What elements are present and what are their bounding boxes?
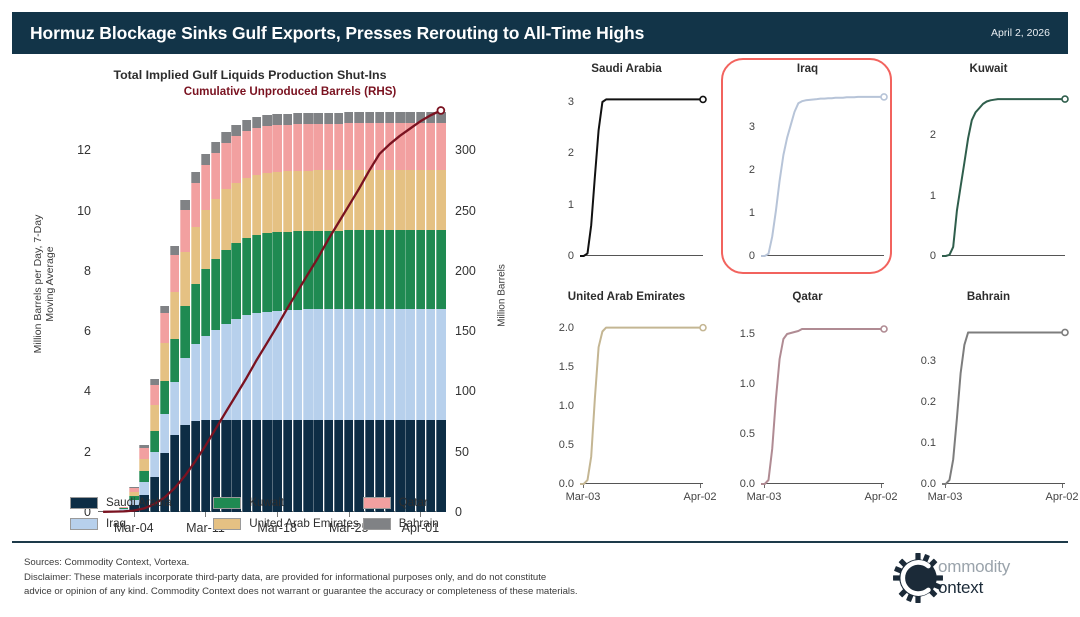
- small-multiple-kuwait[interactable]: Kuwait012: [898, 62, 1079, 290]
- small-multiple-y-tick: 0.5: [740, 428, 755, 440]
- small-multiple-y-tick: 1: [749, 207, 755, 219]
- small-multiples-grid: Saudi Arabia0123Iraq0123Kuwait012United …: [536, 62, 1080, 522]
- line-end-marker: [881, 94, 887, 100]
- small-multiple-line: [942, 84, 1065, 256]
- publication-date: April 2, 2026: [991, 27, 1050, 39]
- small-multiple-y-tick: 0.0: [559, 478, 574, 490]
- small-multiple-line: [942, 312, 1065, 484]
- legend-swatch: [213, 518, 241, 530]
- main-chart-plot-area: 024681012050100150200250300Mar-04Mar-11M…: [98, 102, 446, 512]
- legend-swatch: [363, 497, 391, 509]
- small-multiple-y-tick: 0.0: [740, 478, 755, 490]
- legend-item[interactable]: United Arab Emirates: [213, 513, 359, 534]
- small-multiple-y-tick: 1.0: [559, 400, 574, 412]
- main-chart-y2-axis-label: Million Barrels: [497, 236, 508, 356]
- small-multiple-plot-area: 0.00.10.20.3Mar-03Apr-02: [942, 312, 1065, 484]
- small-multiple-x-tick: Apr-02: [864, 491, 897, 503]
- logo-line-1: ommodity: [938, 556, 1010, 577]
- small-multiple-title: Bahrain: [898, 290, 1079, 303]
- line-end-marker: [700, 325, 706, 331]
- line-end-marker: [700, 96, 706, 102]
- small-multiple-plot-area: 0.00.51.01.52.0Mar-03Apr-02: [580, 312, 703, 484]
- legend-label: Saudi Arabia: [106, 496, 172, 509]
- legend-item[interactable]: Bahrain: [363, 513, 502, 534]
- main-chart-subtitle: Cumulative Unproduced Barrels (RHS): [40, 85, 540, 98]
- small-multiple-plot-area: 012: [942, 84, 1065, 256]
- logo-line-2: ontext: [938, 577, 1010, 598]
- small-multiple-title: United Arab Emirates: [536, 290, 717, 303]
- small-multiple-line: [580, 312, 703, 484]
- main-chart-y2-tick: 300: [455, 143, 476, 157]
- small-multiple-y-tick: 1: [568, 199, 574, 211]
- legend-swatch: [70, 518, 98, 530]
- small-multiple-line: [761, 312, 884, 484]
- small-multiple-y-tick: 0: [749, 250, 755, 262]
- main-chart-y2-tick: 50: [455, 445, 469, 459]
- header-bar: Hormuz Blockage Sinks Gulf Exports, Pres…: [12, 12, 1068, 54]
- small-multiple-x-tick: Mar-03: [747, 491, 782, 503]
- small-multiple-title: Kuwait: [898, 62, 1079, 75]
- small-multiple-x-tick: Mar-03: [566, 491, 601, 503]
- legend-label: Kuwait: [249, 496, 284, 509]
- main-chart-y-tick: 12: [77, 143, 91, 157]
- small-multiple-y-tick: 2: [568, 147, 574, 159]
- small-multiple-saudi-arabia[interactable]: Saudi Arabia0123: [536, 62, 717, 290]
- small-multiple-y-tick: 1.5: [740, 328, 755, 340]
- small-multiple-united-arab-emirates[interactable]: United Arab Emirates0.00.51.01.52.0Mar-0…: [536, 290, 717, 518]
- small-multiple-y-tick: 0.2: [921, 396, 936, 408]
- infographic-page: Hormuz Blockage Sinks Gulf Exports, Pres…: [0, 0, 1080, 617]
- small-multiple-plot-area: 0.00.51.01.5Mar-03Apr-02: [761, 312, 884, 484]
- small-multiple-y-tick: 1.0: [740, 378, 755, 390]
- main-chart-y2-tick: 200: [455, 264, 476, 278]
- main-chart-y-tick: 4: [84, 384, 91, 398]
- commodity-context-logo: ommodity ontext: [892, 548, 1074, 608]
- main-chart-y2-tick: 100: [455, 384, 476, 398]
- small-multiple-iraq[interactable]: Iraq0123: [717, 62, 898, 290]
- page-title: Hormuz Blockage Sinks Gulf Exports, Pres…: [30, 23, 644, 44]
- small-multiple-bahrain[interactable]: Bahrain0.00.10.20.3Mar-03Apr-02: [898, 290, 1079, 518]
- small-multiple-y-tick: 2.0: [559, 322, 574, 334]
- small-multiple-line: [580, 84, 703, 256]
- small-multiple-x-tickmark: [881, 484, 882, 488]
- main-chart-y-tick: 6: [84, 324, 91, 338]
- legend-item[interactable]: Kuwait: [213, 492, 359, 513]
- small-multiple-y-tick: 1.5: [559, 361, 574, 373]
- small-multiple-x-tickmark: [700, 484, 701, 488]
- small-multiple-title: Qatar: [717, 290, 898, 303]
- small-multiple-x-tick: Apr-02: [1045, 491, 1078, 503]
- legend-swatch: [213, 497, 241, 509]
- small-multiple-y-tick: 0.1: [921, 437, 936, 449]
- small-multiple-qatar[interactable]: Qatar0.00.51.01.5Mar-03Apr-02: [717, 290, 898, 518]
- line-end-marker: [1062, 329, 1068, 335]
- chart-legend: Saudi ArabiaKuwaitQatarIraqUnited Arab E…: [70, 492, 502, 534]
- small-multiple-x-tick: Apr-02: [683, 491, 716, 503]
- small-multiple-title: Iraq: [717, 62, 898, 75]
- main-chart-title: Total Implied Gulf Liquids Production Sh…: [0, 68, 500, 82]
- disclaimer-line-2: advice or opinion of any kind. Commodity…: [24, 585, 724, 600]
- legend-swatch: [363, 518, 391, 530]
- legend-label: United Arab Emirates: [249, 517, 359, 530]
- small-multiple-line: [761, 84, 884, 256]
- small-multiple-y-tick: 1: [930, 190, 936, 202]
- legend-label: Qatar: [399, 496, 428, 509]
- small-multiple-y-tick: 3: [749, 121, 755, 133]
- footer-notes: Sources: Commodity Context, Vortexa. Dis…: [24, 556, 724, 600]
- small-multiple-y-tick: 0: [568, 250, 574, 262]
- footer-divider: [12, 541, 1068, 543]
- main-chart-y2-tick: 250: [455, 204, 476, 218]
- small-multiple-x-tick: Mar-03: [928, 491, 963, 503]
- small-multiple-x-tickmark: [1062, 484, 1063, 488]
- legend-label: Bahrain: [399, 517, 439, 530]
- legend-label: Iraq: [106, 517, 126, 530]
- small-multiple-plot-area: 0123: [580, 84, 703, 256]
- line-end-marker: [881, 326, 887, 332]
- gear-icon: [892, 552, 944, 604]
- legend-swatch: [70, 497, 98, 509]
- small-multiple-y-tick: 2: [930, 129, 936, 141]
- small-multiple-y-tick: 0.0: [921, 478, 936, 490]
- small-multiple-title: Saudi Arabia: [536, 62, 717, 75]
- cumulative-barrels-line: [98, 102, 446, 512]
- legend-item[interactable]: Qatar: [363, 492, 502, 513]
- small-multiple-y-tick: 0: [930, 250, 936, 262]
- small-multiple-y-tick: 2: [749, 164, 755, 176]
- small-multiple-y-tick: 0.5: [559, 439, 574, 451]
- small-multiple-plot-area: 0123: [761, 84, 884, 256]
- line-end-marker: [1062, 96, 1068, 102]
- small-multiple-y-tick: 0.3: [921, 355, 936, 367]
- main-chart-y-tick: 10: [77, 204, 91, 218]
- legend-item[interactable]: Iraq: [70, 513, 209, 534]
- logo-wordmark: ommodity ontext: [938, 556, 1010, 598]
- main-chart-y-tick: 2: [84, 445, 91, 459]
- main-chart-panel: Total Implied Gulf Liquids Production Sh…: [0, 62, 520, 542]
- main-chart-y2-tick: 150: [455, 324, 476, 338]
- main-chart-y-axis-label: Million Barrels per Day, 7-Day Moving Av…: [32, 204, 56, 364]
- sources-line: Sources: Commodity Context, Vortexa.: [24, 556, 724, 571]
- main-chart-y-tick: 8: [84, 264, 91, 278]
- small-multiple-y-tick: 3: [568, 96, 574, 108]
- line-end-marker: [437, 107, 444, 114]
- legend-item[interactable]: Saudi Arabia: [70, 492, 209, 513]
- disclaimer-line-1: Disclaimer: These materials incorporate …: [24, 571, 724, 586]
